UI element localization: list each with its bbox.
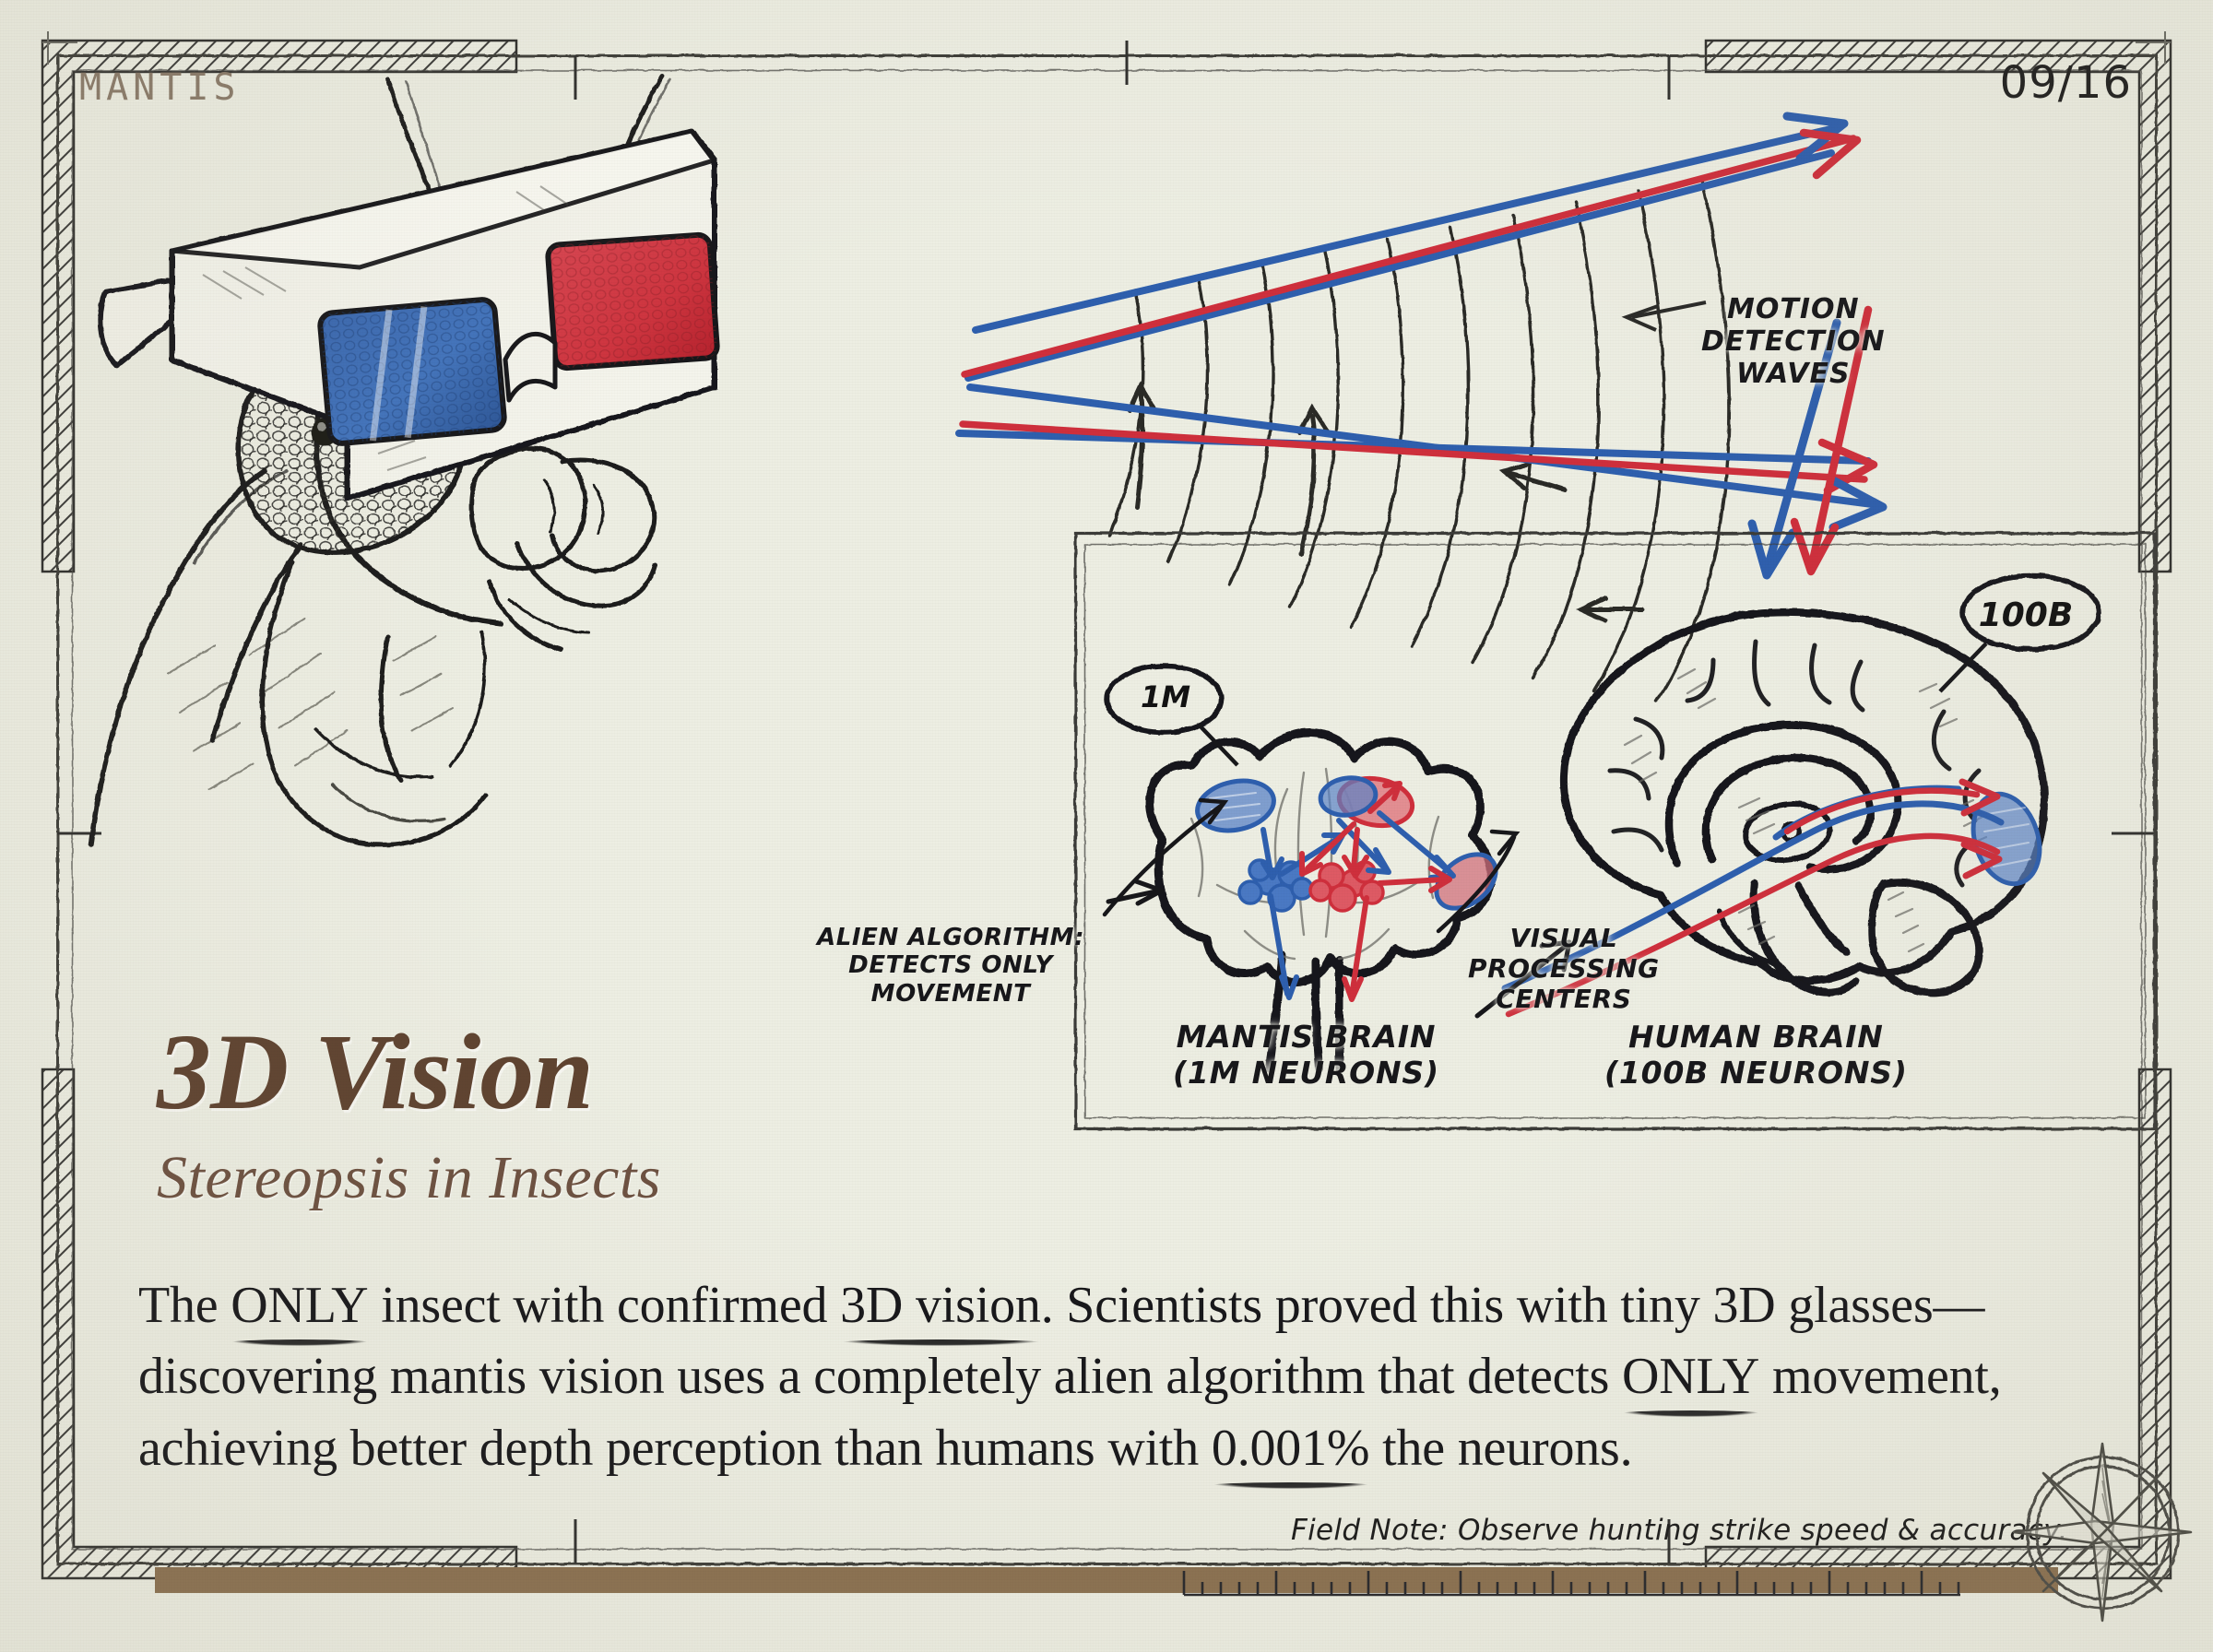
- human-brain-caption: HUMAN BRAIN (100B NEURONS): [1604, 1020, 1908, 1091]
- body-text-run: insect with confirmed: [368, 1277, 840, 1334]
- callout-1m-text: 1M: [1124, 679, 1207, 714]
- human-neuron-callout: [1935, 560, 2137, 736]
- field-note: Field Note: Observe hunting strike speed…: [1291, 1514, 2068, 1547]
- motion-detection-waves-label: MOTION DETECTION WAVES: [1701, 293, 1886, 390]
- mantis-mandibles: [471, 448, 655, 649]
- waves-label-leader: [1627, 302, 1706, 330]
- body-text-run: the neurons.: [1369, 1420, 1632, 1477]
- mantis-foreleg: [262, 562, 485, 844]
- page-number: 09/16: [2000, 57, 2132, 109]
- mantis-neuron-callout: [1097, 656, 1282, 804]
- alien-algorithm-label: ALIEN ALGORITHM: DETECTS ONLY MOVEMENT: [817, 924, 1084, 1008]
- emphasized-phrase: ONLY: [231, 1277, 368, 1334]
- human-brain-gyri: [1610, 642, 1979, 885]
- scale-ruler: [1171, 1558, 2001, 1622]
- emphasized-phrase: 3D vision: [840, 1277, 1041, 1334]
- glasses-blue-lens: [319, 299, 505, 444]
- page-subtitle: Stereopsis in Insects: [157, 1143, 661, 1213]
- page-title-block: 3D Vision Stereopsis in Insects: [157, 1018, 661, 1213]
- body-paragraph: The ONLY insect with confirmed 3D vision…: [138, 1270, 2093, 1484]
- glasses-red-lens: [548, 234, 718, 369]
- body-text-run: The: [138, 1277, 231, 1334]
- mantis-brain-caption: MANTIS BRAIN (1M NEURONS): [1173, 1020, 1439, 1091]
- callout-100b-text: 100B: [1970, 596, 2081, 634]
- emphasized-phrase: 0.001%: [1212, 1420, 1369, 1477]
- section-tag: MANTIS: [79, 66, 241, 109]
- page-title: 3D Vision: [157, 1018, 661, 1127]
- compass-rose: [2010, 1440, 2204, 1624]
- visual-processing-centers-label: VISUAL PROCESSING CENTERS: [1468, 924, 1660, 1014]
- anaglyph-3d-glasses: [100, 131, 717, 498]
- emphasized-phrase: ONLY: [1622, 1348, 1759, 1405]
- infographic-page: MOTION DETECTION WAVES: [0, 0, 2213, 1652]
